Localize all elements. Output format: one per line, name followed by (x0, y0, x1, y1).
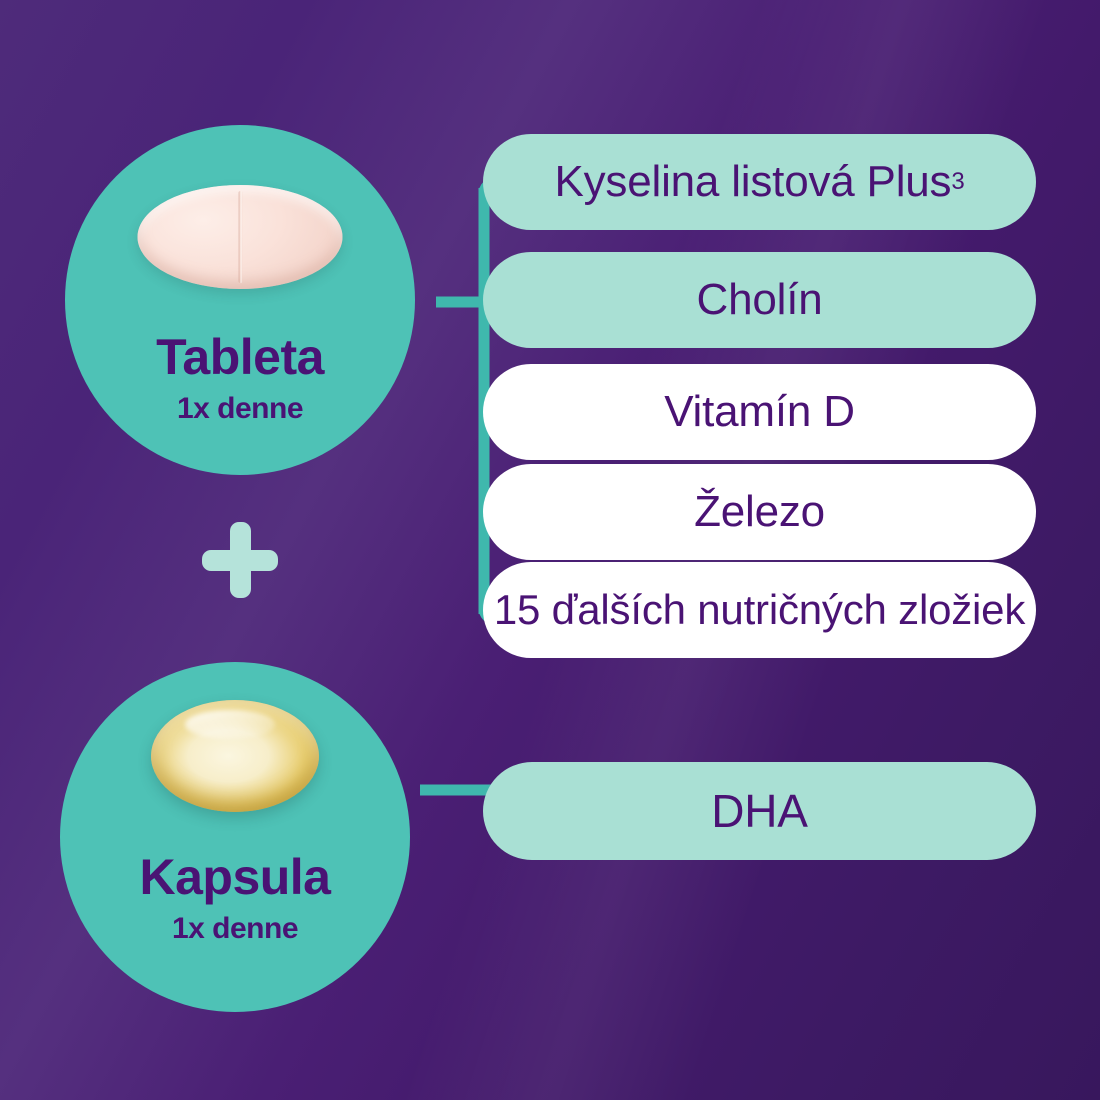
plus-icon (202, 522, 278, 598)
infographic-canvas: Tableta 1x denne Kapsula 1x denne (0, 0, 1100, 1100)
tablet-score-line (238, 191, 242, 283)
nutrient-label: Vitamín D (664, 387, 855, 437)
nutrient-pill-vitamin-d[interactable]: Vitamín D (483, 364, 1036, 460)
dose-circle-tablet: Tableta 1x denne (65, 125, 415, 475)
dose-title-tablet: Tableta (156, 332, 324, 382)
dose-title-capsule: Kapsula (139, 852, 330, 902)
nutrient-pill-dha[interactable]: DHA (483, 762, 1036, 860)
dose-frequency-tablet: 1x denne (177, 394, 303, 424)
dose-circle-capsule: Kapsula 1x denne (60, 662, 410, 1012)
capsule-highlight (185, 710, 276, 739)
nutrient-label: DHA (711, 784, 808, 838)
nutrient-label: Cholín (697, 275, 823, 325)
nutrient-label: 15 ďalších nutričných zložiek (494, 586, 1025, 634)
dose-frequency-capsule: 1x denne (172, 914, 298, 944)
golden-softgel-capsule-icon (151, 700, 319, 812)
nutrient-pill-zelezo[interactable]: Železo (483, 464, 1036, 560)
plus-icon-vertical-bar (230, 522, 251, 598)
nutrient-label: Železo (694, 487, 825, 537)
nutrient-pill-cholin[interactable]: Cholín (483, 252, 1036, 348)
nutrient-pill-kyselina-listova-plus[interactable]: Kyselina listová Plus3 (483, 134, 1036, 230)
pink-oval-tablet-icon (138, 185, 343, 289)
nutrient-label: Kyselina listová Plus (554, 157, 951, 207)
nutrient-pill-dalsich-nutricnych-zloziek[interactable]: 15 ďalších nutričných zložiek (483, 562, 1036, 658)
